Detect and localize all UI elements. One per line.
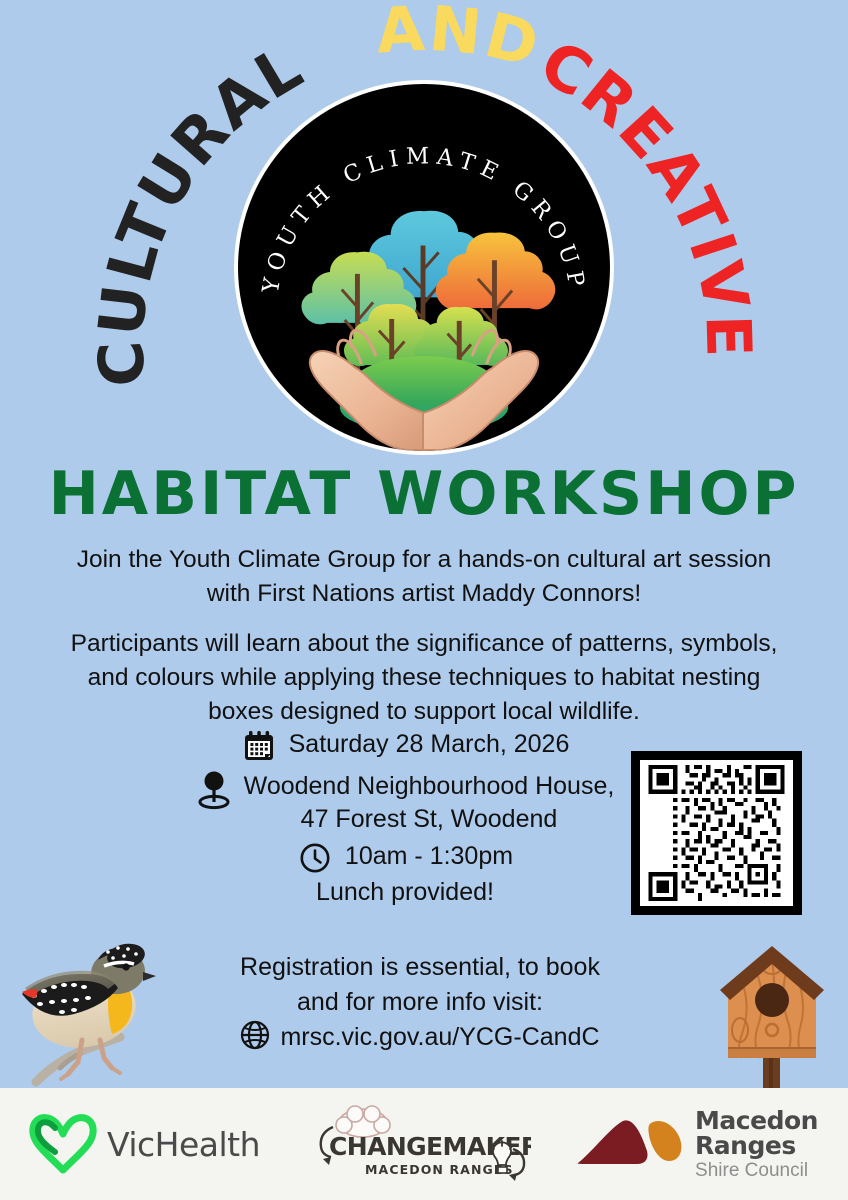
registration-line-1: Registration is essential, to book — [150, 950, 690, 985]
youth-climate-group-logo: YOUTH CLIMATE GROUP — [234, 80, 614, 455]
mrsc-line-1: Macedon — [695, 1108, 818, 1133]
event-date-row: Saturday 28 March, 2026 — [180, 728, 630, 764]
two-hills-icon — [575, 1111, 687, 1178]
event-location-row: Woodend Neighbourhood House, 47 Forest S… — [180, 770, 630, 836]
qr-code[interactable] — [631, 751, 802, 915]
changemakers-logo: CHANGEMAKERS MACEDON RANGES — [285, 1088, 545, 1200]
page-title: HABITAT WORKSHOP — [0, 464, 848, 524]
event-details: Saturday 28 March, 2026 Woodend Neighbou… — [180, 728, 630, 909]
map-pin-icon — [196, 772, 232, 808]
calendar-icon — [241, 728, 277, 764]
event-location-line2: 47 Forest St, Woodend — [301, 805, 558, 833]
poster-canvas: CULTURAL AND CREATIVE — [0, 0, 848, 1200]
event-time-row: 10am - 1:30pm — [180, 840, 630, 876]
logo-disc: YOUTH CLIMATE GROUP — [234, 80, 614, 455]
vichealth-wordmark: VicHealth — [107, 1125, 260, 1164]
macedon-ranges-shire-council-logo: Macedon Ranges Shire Council — [545, 1088, 848, 1200]
vichealth-logo: VicHealth — [0, 1088, 285, 1200]
description-paragraph-2: Participants will learn about the signif… — [70, 627, 778, 729]
event-location-text: Woodend Neighbourhood House, 47 Forest S… — [244, 770, 615, 836]
changemakers-subtext: MACEDON RANGES — [365, 1162, 514, 1177]
vichealth-heart-icon — [25, 1108, 101, 1181]
event-time-text: 10am - 1:30pm — [345, 840, 513, 873]
event-location-line1: Woodend Neighbourhood House, — [244, 772, 615, 800]
spotted-pardalote-bird-illustration — [0, 936, 170, 1088]
description-block: Join the Youth Climate Group for a hands… — [70, 543, 778, 729]
lunch-note: Lunch provided! — [180, 876, 630, 909]
website-row[interactable]: mrsc.vic.gov.au/YCG-CandC — [150, 1020, 690, 1055]
website-url[interactable]: mrsc.vic.gov.au/YCG-CandC — [280, 1020, 599, 1055]
footer-logo-bar: VicHealth CHANGEMAKERS MACEDON RANGES — [0, 1088, 848, 1200]
globe-icon — [240, 1020, 270, 1055]
macedon-ranges-wordmark: Macedon Ranges Shire Council — [695, 1108, 818, 1180]
mrsc-subtext: Shire Council — [695, 1161, 818, 1180]
wooden-birdhouse-illustration — [706, 938, 838, 1088]
registration-block: Registration is essential, to book and f… — [150, 950, 690, 1055]
description-paragraph-1: Join the Youth Climate Group for a hands… — [70, 543, 778, 611]
headline-word-and: AND — [374, 0, 548, 82]
mrsc-line-2: Ranges — [695, 1133, 818, 1158]
clock-icon — [297, 840, 333, 876]
event-date-text: Saturday 28 March, 2026 — [289, 728, 570, 761]
qr-code-modules — [640, 760, 793, 906]
registration-line-2: and for more info visit: — [150, 985, 690, 1020]
